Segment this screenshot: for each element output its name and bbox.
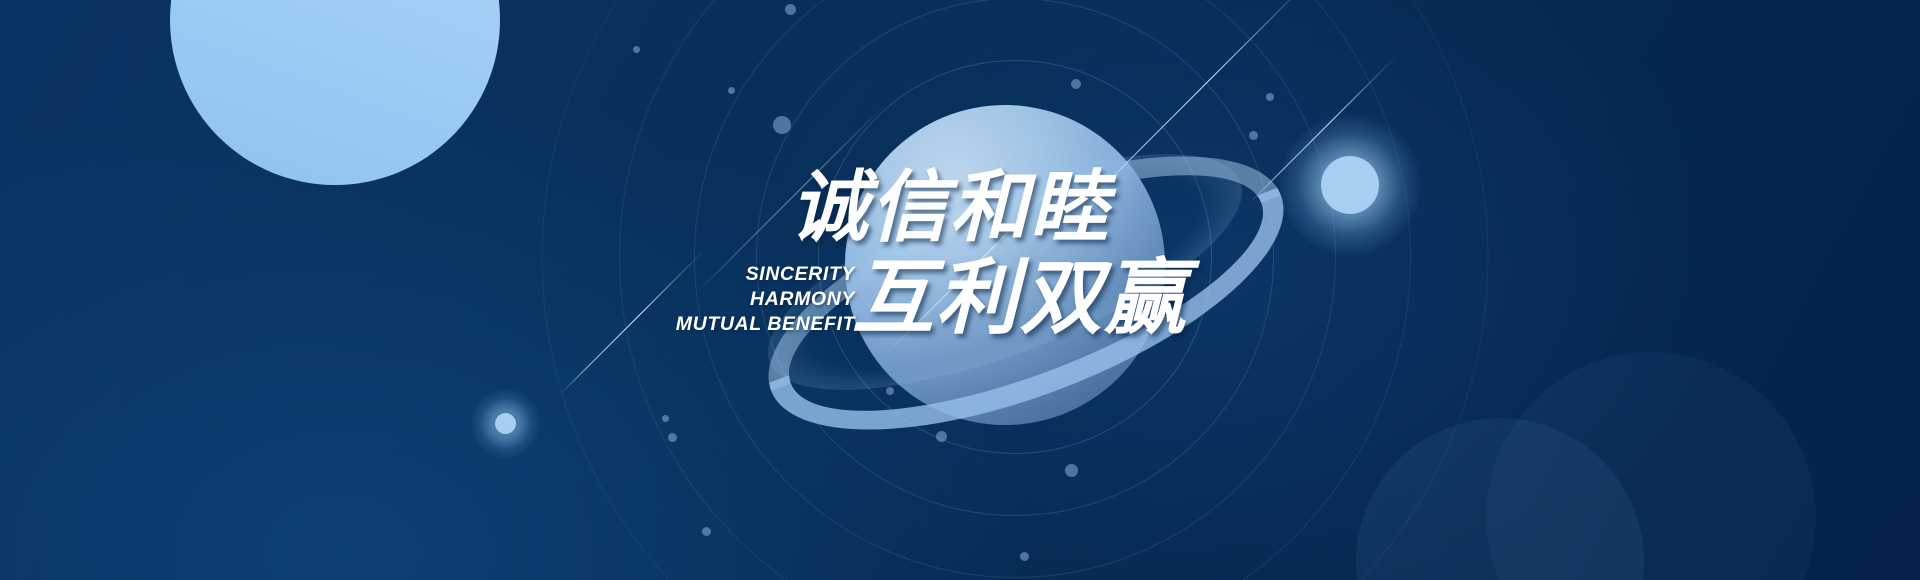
banner-copy: SINCERITY HARMONY MUTUAL BENEFIT 诚信和睦 互利… [0, 0, 1920, 580]
banner-subtitle: SINCERITY HARMONY MUTUAL BENEFIT [555, 262, 855, 337]
headline-line-1: 诚信和睦 [790, 168, 1110, 246]
subtitle-line-1: SINCERITY [555, 262, 855, 287]
headline-line-2: 互利双赢 [852, 258, 1188, 340]
subtitle-line-3: MUTUAL BENEFIT [555, 312, 855, 337]
subtitle-line-2: HARMONY [555, 287, 855, 312]
hero-banner: SINCERITY HARMONY MUTUAL BENEFIT 诚信和睦 互利… [0, 0, 1920, 580]
